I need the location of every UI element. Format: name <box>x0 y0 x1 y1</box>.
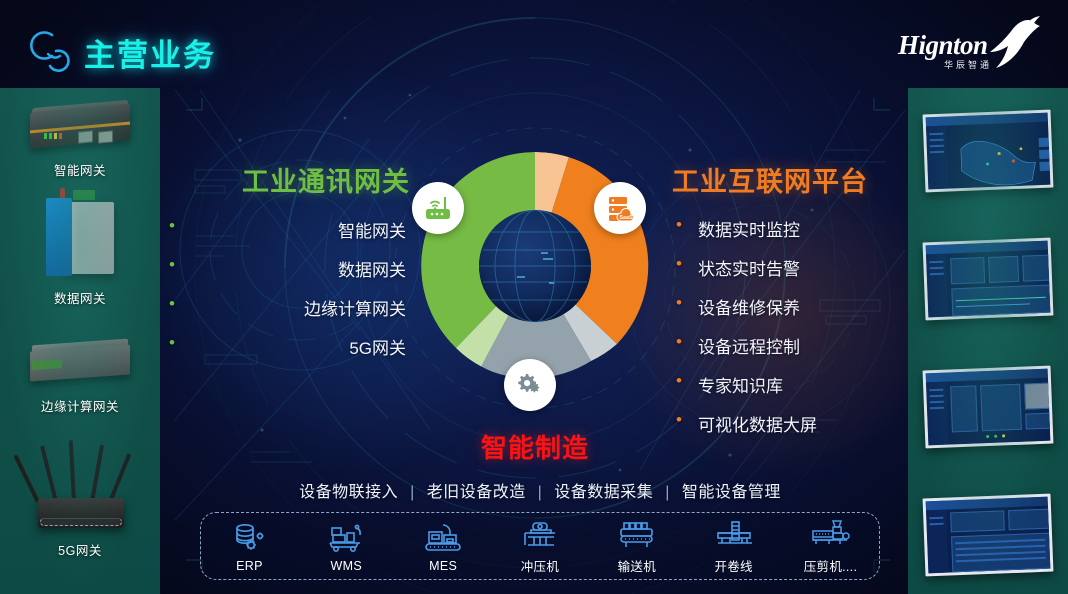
strip-label: ERP <box>206 559 292 573</box>
systems-strip: ERP WMS <box>200 512 880 580</box>
strip-item-erp[interactable]: ERP <box>206 520 292 573</box>
slide-canvas: 主营业务 Hignton 华辰智通 智能网关 数 <box>0 0 1068 594</box>
gears-icon <box>514 369 546 401</box>
saas-server-badge[interactable]: SaaS <box>594 182 646 234</box>
logo-subtitle: 华辰智通 <box>944 58 992 71</box>
strip-item-conveyor[interactable]: 输送机 <box>594 517 680 575</box>
left-feature-list: 智能网关 数据网关 边缘计算网关 5G网关 <box>185 217 410 359</box>
smart-gateway-device-image <box>22 100 138 156</box>
page-title: 主营业务 <box>84 30 216 75</box>
product-item-smart-gateway[interactable]: 智能网关 <box>0 92 160 179</box>
left-column-title: 工业通讯网关 <box>185 160 410 199</box>
database-gear-icon <box>206 520 292 554</box>
product-item-5g-gateway[interactable]: 5G网关 <box>0 438 160 559</box>
data-monitor-dashboard-thumbnail[interactable] <box>923 238 1054 321</box>
strip-label: WMS <box>303 559 389 573</box>
strip-item-shear-press[interactable]: 压剪机.... <box>787 517 873 575</box>
list-item[interactable]: 边缘计算网关 <box>185 295 410 320</box>
list-item[interactable]: 智能网关 <box>185 217 410 242</box>
caption-item: 设备物联接入 <box>299 484 398 501</box>
right-dashboard-panel <box>908 88 1068 594</box>
list-item[interactable]: 专家知识库 <box>672 372 902 397</box>
caption-line: 设备物联接入 | 老旧设备改造 | 设备数据采集 | 智能设备管理 <box>190 478 890 502</box>
map-dashboard-thumbnail[interactable] <box>923 110 1054 193</box>
right-column-title: 工业互联网平台 <box>672 160 902 199</box>
caption-item: 老旧设备改造 <box>427 484 526 501</box>
right-feature-list: 数据实时监控 状态实时告警 设备维修保养 设备远程控制 专家知识库 可视化数据大… <box>672 216 902 436</box>
svg-text:SaaS: SaaS <box>619 215 633 221</box>
list-item[interactable]: 可视化数据大屏 <box>672 411 902 436</box>
product-label: 数据网关 <box>0 288 160 307</box>
caption-separator: | <box>538 484 543 501</box>
page-header: 主营业务 Hignton 华辰智通 <box>0 0 1068 88</box>
left-product-panel: 智能网关 数据网关 边缘计算网关 <box>0 88 160 594</box>
strip-item-stamping[interactable]: 冲压机 <box>497 517 583 575</box>
right-feature-column: 工业互联网平台 数据实时监控 状态实时告警 设备维修保养 设备远程控制 专家知识… <box>672 160 902 450</box>
list-item[interactable]: 数据网关 <box>185 256 410 281</box>
list-item[interactable]: 状态实时告警 <box>672 255 902 280</box>
strip-label: 开卷线 <box>691 556 777 575</box>
company-logo: Hignton 华辰智通 <box>888 14 1048 76</box>
caption-item: 设备数据采集 <box>554 484 653 501</box>
strip-label: 输送机 <box>594 556 680 575</box>
list-item[interactable]: 5G网关 <box>185 334 410 359</box>
shear-press-icon <box>787 517 873 551</box>
strip-item-wms[interactable]: WMS <box>303 520 389 573</box>
strip-label: 冲压机 <box>497 556 583 575</box>
product-label: 边缘计算网关 <box>0 396 160 415</box>
data-gateway-device-image <box>40 188 120 284</box>
product-label: 5G网关 <box>0 540 160 559</box>
caption-item: 智能设备管理 <box>682 484 781 501</box>
cycle-logo-icon <box>30 30 74 72</box>
strip-label: MES <box>400 559 486 573</box>
saas-server-icon: SaaS <box>604 192 636 224</box>
product-item-data-gateway[interactable]: 数据网关 <box>0 184 160 307</box>
edge-gateway-device-image <box>20 336 140 392</box>
conveyor-box-icon <box>400 520 486 554</box>
router-gateway-badge[interactable] <box>412 182 464 234</box>
conveyor-machine-icon <box>594 517 680 551</box>
list-item[interactable]: 设备维修保养 <box>672 294 902 319</box>
5g-gateway-device-image <box>20 440 140 536</box>
gears-badge[interactable] <box>504 359 556 411</box>
donut-center-title: 智能制造 <box>421 428 649 465</box>
left-feature-column: 工业通讯网关 智能网关 数据网关 边缘计算网关 5G网关 <box>185 160 410 373</box>
caption-separator: | <box>410 484 415 501</box>
caption-separator: | <box>665 484 670 501</box>
warehouse-cart-icon <box>303 520 389 554</box>
equipment-detail-dashboard-thumbnail[interactable] <box>923 366 1054 449</box>
list-item[interactable]: 数据实时监控 <box>672 216 902 241</box>
product-label: 智能网关 <box>0 160 160 179</box>
router-gateway-icon <box>422 192 454 224</box>
logo-wordmark: Hignton <box>898 30 988 61</box>
report-table-dashboard-thumbnail[interactable] <box>923 494 1054 577</box>
strip-label: 压剪机.... <box>787 556 873 575</box>
strip-item-mes[interactable]: MES <box>400 520 486 573</box>
list-item[interactable]: 设备远程控制 <box>672 333 902 358</box>
strip-item-uncoiling[interactable]: 开卷线 <box>691 517 777 575</box>
uncoiling-line-icon <box>691 517 777 551</box>
product-item-edge-gateway[interactable]: 边缘计算网关 <box>0 328 160 415</box>
stamping-machine-icon <box>497 517 583 551</box>
